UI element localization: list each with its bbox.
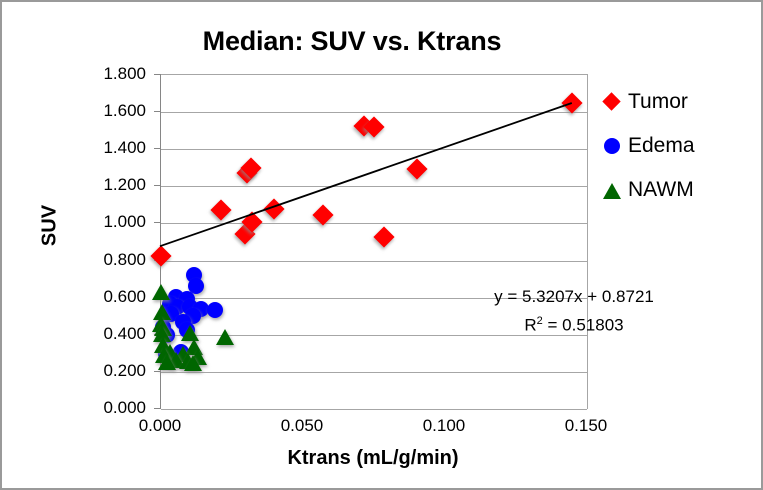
legend-item-nawm[interactable]: NAWM [602,168,760,212]
y-axis-tick-label: 1.800 [80,64,146,84]
trendline [160,74,590,414]
legend-label-tumor: Tumor [628,90,688,114]
x-axis-tick-label: 0.000 [120,416,200,436]
x-axis-tick-label: 0.050 [262,416,342,436]
y-axis-tick-label: 1.400 [80,138,146,158]
chart-title: Median: SUV vs. Ktrans [2,26,702,57]
legend-item-edema[interactable]: Edema [602,124,760,168]
trendline-equation-annotation: y = 5.3207x + 0.8721 R2 = 0.51803 [454,284,694,338]
legend-label-edema: Edema [628,134,695,158]
y-axis-tick-label: 1.200 [80,175,146,195]
x-axis-title: Ktrans (mL/g/min) [160,447,586,470]
tumor-diamond-icon [602,92,622,112]
y-axis-tick-label: 1.000 [80,212,146,232]
y-axis-tick-label: 0.200 [80,361,146,381]
y-axis-tick-label: 0.800 [80,250,146,270]
edema-circle-icon [602,136,622,156]
equation-line: y = 5.3207x + 0.8721 [494,287,654,306]
legend-item-tumor[interactable]: Tumor [602,80,760,124]
y-axis-tick-label: 0.000 [80,398,146,418]
nawm-triangle-icon [602,180,622,200]
y-axis-tick-label: 0.400 [80,324,146,344]
x-axis-tick-label: 0.100 [404,416,484,436]
r-squared-prefix: R [524,316,536,335]
y-axis-title: SUV [39,166,62,286]
r-squared-value: = 0.51803 [543,316,624,335]
x-axis-tick-label: 0.150 [546,416,626,436]
y-axis-tick-label: 1.600 [80,101,146,121]
legend-label-nawm: NAWM [628,178,694,202]
r-squared-line: R2 = 0.51803 [454,309,694,338]
chart-container: Median: SUV vs. Ktrans 0.0000.2000.4000.… [0,0,763,490]
y-axis-tick-label: 0.600 [80,287,146,307]
legend: Tumor Edema NAWM [602,80,760,212]
